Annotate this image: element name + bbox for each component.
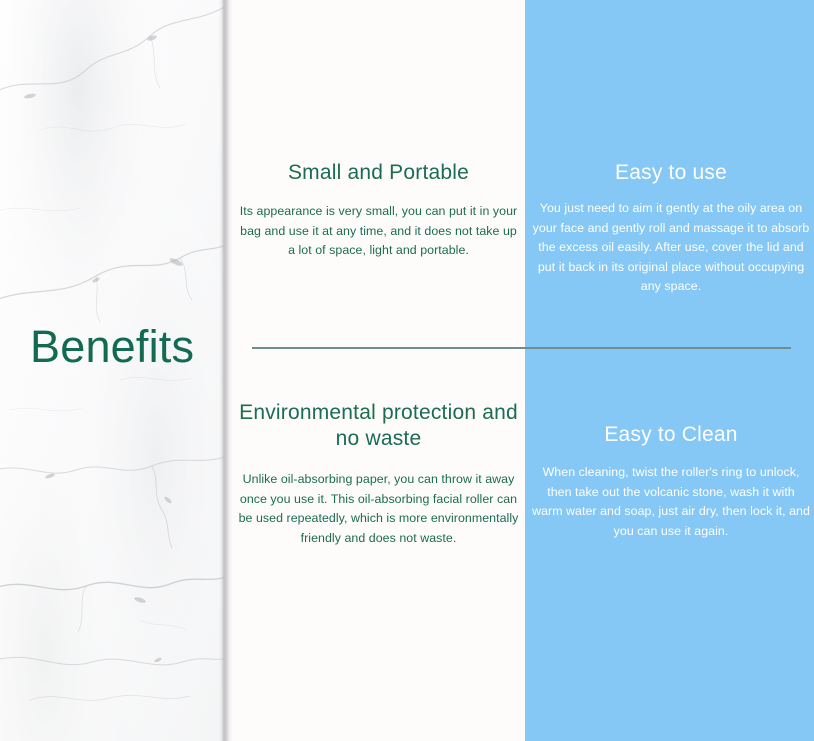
marble-background-panel: Benefits — [0, 0, 224, 741]
white-content-column — [232, 0, 525, 741]
benefits-infographic: Benefits Small and Portable Its appearan… — [0, 0, 814, 741]
benefit-body: You just need to aim it gently at the oi… — [532, 199, 810, 297]
benefit-heading: Easy to Clean — [532, 422, 810, 448]
benefit-heading: Easy to use — [532, 160, 810, 186]
benefit-body: Unlike oil-absorbing paper, you can thro… — [238, 470, 519, 548]
benefit-card-easy-to-clean: Easy to Clean When cleaning, twist the r… — [532, 422, 810, 541]
benefit-body: When cleaning, twist the roller's ring t… — [532, 463, 810, 541]
benefit-heading: Environmental protection and no waste — [238, 400, 519, 452]
blue-content-column — [525, 0, 814, 741]
benefit-card-easy-to-use: Easy to use You just need to aim it gent… — [532, 160, 810, 297]
benefit-card-environmental-protection: Environmental protection and no waste Un… — [238, 400, 519, 548]
benefit-body: Its appearance is very small, you can pu… — [238, 202, 519, 261]
page-title: Benefits — [30, 320, 220, 374]
benefit-card-small-and-portable: Small and Portable Its appearance is ver… — [238, 160, 519, 261]
section-divider — [252, 347, 791, 349]
benefit-heading: Small and Portable — [238, 160, 519, 186]
